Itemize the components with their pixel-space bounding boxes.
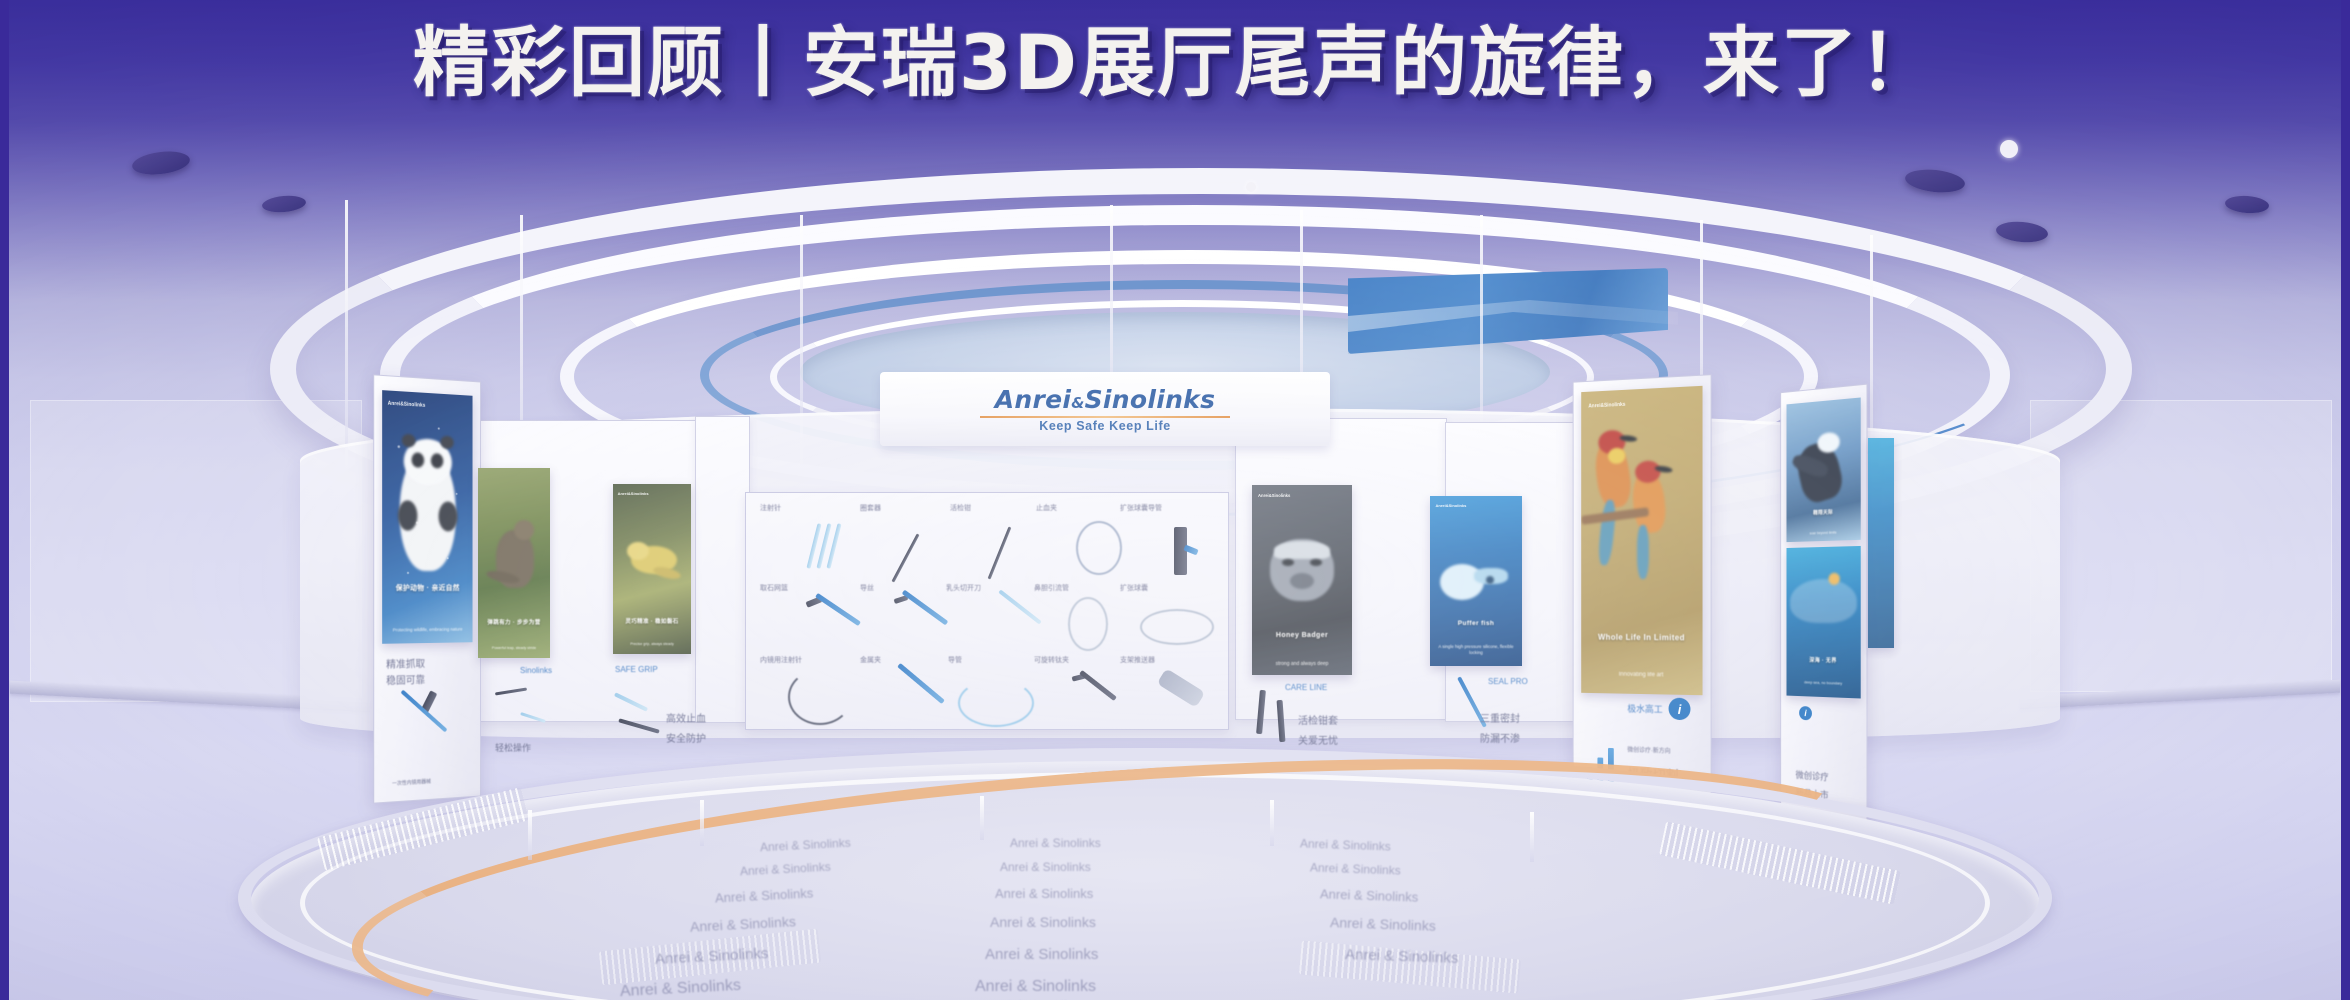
poster-logo: Anrei&Sinolinks xyxy=(388,401,426,409)
product-label: 注射针 xyxy=(760,503,781,513)
poster-bee-eater-birds[interactable]: Anrei&Sinolinks Whole Life In Limited In… xyxy=(1581,386,1702,695)
poster-logo: Anrei&Sinolinks xyxy=(1258,493,1290,498)
poster-edge-sliver xyxy=(1868,438,1894,648)
product-stent-pusher xyxy=(1157,668,1206,708)
badger-brow-shape xyxy=(1274,541,1330,559)
brand-underline xyxy=(980,416,1230,418)
poster-ocean[interactable]: 深海 · 无界 deep sea, no boundary xyxy=(1787,546,1861,699)
frog-leg-shape xyxy=(652,565,682,581)
floor-text-row: Anrei & Sinolinks xyxy=(985,946,1098,963)
poster-title: Honey Badger xyxy=(1258,632,1346,639)
floor-rail-post xyxy=(528,810,532,860)
floor-rail-post xyxy=(980,796,984,840)
poster-subtitle: Precise grip, always steady xyxy=(619,642,685,647)
panda-head-shape xyxy=(404,438,452,486)
poster-subtitle: soar beyond limits xyxy=(1792,529,1854,536)
wall-panel xyxy=(2030,400,2332,692)
product-instrument xyxy=(891,533,919,582)
exhibition-hall-screenshot: Anrei&Sinolinks 保护动物 · 亲近自然 Protecting w… xyxy=(0,0,2350,1000)
wall-caption-zh1: 微创诊疗 xyxy=(1796,769,1829,785)
panda-eye-icon xyxy=(431,453,443,468)
info-badge-icon: i xyxy=(1799,706,1812,720)
poster-honey-badger[interactable]: Anrei&Sinolinks Honey Badger strong and … xyxy=(1252,485,1352,675)
banner-brand-zh: 极水高工 xyxy=(1627,703,1662,717)
floor-rail-post xyxy=(1530,812,1534,862)
wall-caption-zh2: 关爱无忧 xyxy=(1298,734,1338,749)
poster-subtitle: strong and always deep xyxy=(1260,661,1344,668)
product-instrument xyxy=(815,593,861,626)
product-display-board[interactable]: 注射针 圈套器 活检钳 止血夹 扩张球囊导管 取石网篮 导丝 乳头切开刀 鼻胆引… xyxy=(745,492,1229,730)
poster-subtitle: A single high pressure silicone, flexibl… xyxy=(1437,644,1514,656)
poster-title: 弹跳有力 · 步步为营 xyxy=(482,618,545,626)
product-label: 金属夹 xyxy=(860,655,881,665)
brand-name: Anrei&Sinolinks xyxy=(995,385,1216,414)
product-label: 支架推送器 xyxy=(1120,655,1155,665)
poster-subtitle: Innovating life art xyxy=(1591,670,1693,680)
banner-sub-caption: 微创诊疗·新方向 xyxy=(1627,747,1670,757)
product-label: 取石网篮 xyxy=(760,583,788,593)
product-instrument xyxy=(998,589,1041,624)
wall-caption-zh1: 三重密封 xyxy=(1480,712,1520,727)
wall-caption-zh: 轻松操作 xyxy=(495,742,531,756)
poster-subtitle: Powerful leap, steady stride xyxy=(484,646,545,651)
poster-eagle[interactable]: 翱翔天际 soar beyond limits xyxy=(1787,397,1861,542)
wall-caption-en: SEAL PRO xyxy=(1488,676,1528,688)
poster-title: 深海 · 无界 xyxy=(1791,655,1856,664)
floor-text-row: Anrei & Sinolinks xyxy=(975,978,1096,996)
floor-text-row: Anrei & Sinolinks xyxy=(995,886,1093,901)
floor-text-row: Anrei & Sinolinks xyxy=(1000,860,1091,874)
product-label: 导丝 xyxy=(860,583,874,593)
ocean-wave-shape xyxy=(1790,579,1857,624)
product-instrument xyxy=(902,590,949,626)
wall-caption-zh2: 防漏不渗 xyxy=(1480,732,1520,747)
poster-logo: Anrei&Sinolinks xyxy=(618,491,649,496)
kangaroo-head-shape xyxy=(514,520,534,540)
left-border-strip xyxy=(0,0,9,1000)
product-label: 内镜用注射针 xyxy=(760,655,802,665)
floor-rail-post xyxy=(700,800,704,846)
puffer-eye-icon xyxy=(1486,576,1494,584)
product-label: 可旋转钛夹 xyxy=(1034,655,1069,665)
wall-caption-en: SAFE GRIP xyxy=(615,664,658,676)
floor-text-row: Anrei & Sinolinks xyxy=(1010,836,1101,850)
product-balloon-oval xyxy=(1140,609,1214,645)
product-basket-loop xyxy=(1068,597,1108,651)
wall-caption-zh1: 高效止血 xyxy=(666,712,706,727)
poster-logo: Anrei&Sinolinks xyxy=(1588,402,1625,410)
floor-text-row: Anrei & Sinolinks xyxy=(990,914,1096,930)
eagle-head-shape xyxy=(1817,432,1839,454)
banner-caption-line2: 稳固可靠 xyxy=(386,673,425,689)
floor-rail-post xyxy=(1270,800,1274,846)
panda-ear-icon xyxy=(440,436,453,450)
poster-title: Puffer fish xyxy=(1436,620,1517,627)
poster-panda[interactable]: Anrei&Sinolinks 保护动物 · 亲近自然 Protecting w… xyxy=(382,390,472,644)
product-curved-marker xyxy=(788,669,852,725)
ocean-sun-icon xyxy=(1829,573,1840,585)
bird-tail-shape xyxy=(1597,499,1617,565)
product-label: 乳头切开刀 xyxy=(946,583,981,593)
badger-eye-icon xyxy=(1310,559,1322,566)
poster-title: 翱翔天际 xyxy=(1791,507,1856,517)
banner-caption-line1: 精准抓取 xyxy=(386,657,425,673)
info-badge-icon: i xyxy=(1669,698,1691,721)
badger-eye-icon xyxy=(1282,559,1294,566)
wall-caption-en: CARE LINE xyxy=(1285,682,1327,694)
product-snare-loop xyxy=(1076,521,1122,575)
wall-caption-zh2: 安全防护 xyxy=(666,732,706,747)
panda-body-shape xyxy=(400,450,456,571)
product-instrument xyxy=(988,526,1012,579)
poster-subtitle: Protecting wildlife, embracing nature xyxy=(390,626,466,633)
product-label: 鼻胆引流管 xyxy=(1034,583,1069,593)
frog-head-shape xyxy=(627,542,649,560)
product-label: 扩张球囊 xyxy=(1120,583,1148,593)
right-border-strip xyxy=(2341,0,2350,1000)
poster-title: 保护动物 · 亲近自然 xyxy=(388,583,468,593)
standing-banner-far-right[interactable]: 翱翔天际 soar beyond limits 深海 · 无界 deep sea… xyxy=(1780,384,1867,835)
product-instrument xyxy=(897,663,945,704)
poster-subtitle: deep sea, no boundary xyxy=(1792,679,1854,686)
product-label: 活检钳 xyxy=(950,503,971,513)
panda-arm-icon xyxy=(439,501,458,531)
brand-tagline: Keep Safe Keep Life xyxy=(1039,419,1171,433)
product-instrument xyxy=(1079,670,1117,701)
poster-title: 灵巧精准 · 稳如磐石 xyxy=(618,617,687,625)
wall-caption-en: Sinolinks xyxy=(520,665,552,677)
poster-kangaroo[interactable]: 弹跳有力 · 步步为营 Powerful leap, steady stride xyxy=(478,468,550,658)
brand-ampersand: & xyxy=(1071,394,1084,412)
product-instrument xyxy=(400,690,447,733)
panda-eye-icon xyxy=(412,452,425,468)
banner-bottom-caption: 一次性内镜用器械 xyxy=(392,779,431,789)
product-label: 止血夹 xyxy=(1036,503,1057,513)
product-label: 圈套器 xyxy=(860,503,881,513)
poster-frog[interactable]: Anrei&Sinolinks 灵巧精准 · 稳如磐石 Precise grip… xyxy=(613,484,691,654)
standing-banner-left[interactable]: Anrei&Sinolinks 保护动物 · 亲近自然 Protecting w… xyxy=(373,374,481,803)
poster-logo: Anrei&Sinolinks xyxy=(1436,503,1467,508)
brand-sign: Anrei&Sinolinks Keep Safe Keep Life xyxy=(880,372,1330,446)
poster-title: Whole Life In Limited xyxy=(1588,633,1695,643)
product-label: 扩张球囊导管 xyxy=(1120,503,1162,513)
product-long-curve xyxy=(958,679,1034,727)
product-label: 导管 xyxy=(948,655,962,665)
ceiling-light-dot-icon xyxy=(2000,140,2018,158)
badger-snout-shape xyxy=(1290,573,1314,589)
panda-ear-icon xyxy=(402,434,416,448)
ceiling-light-dot-icon xyxy=(1246,182,1256,192)
wall-caption-zh1: 活检钳套 xyxy=(1298,714,1338,729)
bird-tail-shape xyxy=(1637,525,1649,579)
poster-puffer-fish[interactable]: Anrei&Sinolinks Puffer fish A single hig… xyxy=(1430,496,1522,666)
panda-arm-icon xyxy=(398,500,417,531)
brand-name-part2: Sinolinks xyxy=(1085,385,1216,414)
brand-name-part1: Anrei xyxy=(995,385,1072,414)
wall-display-panel xyxy=(695,416,750,723)
